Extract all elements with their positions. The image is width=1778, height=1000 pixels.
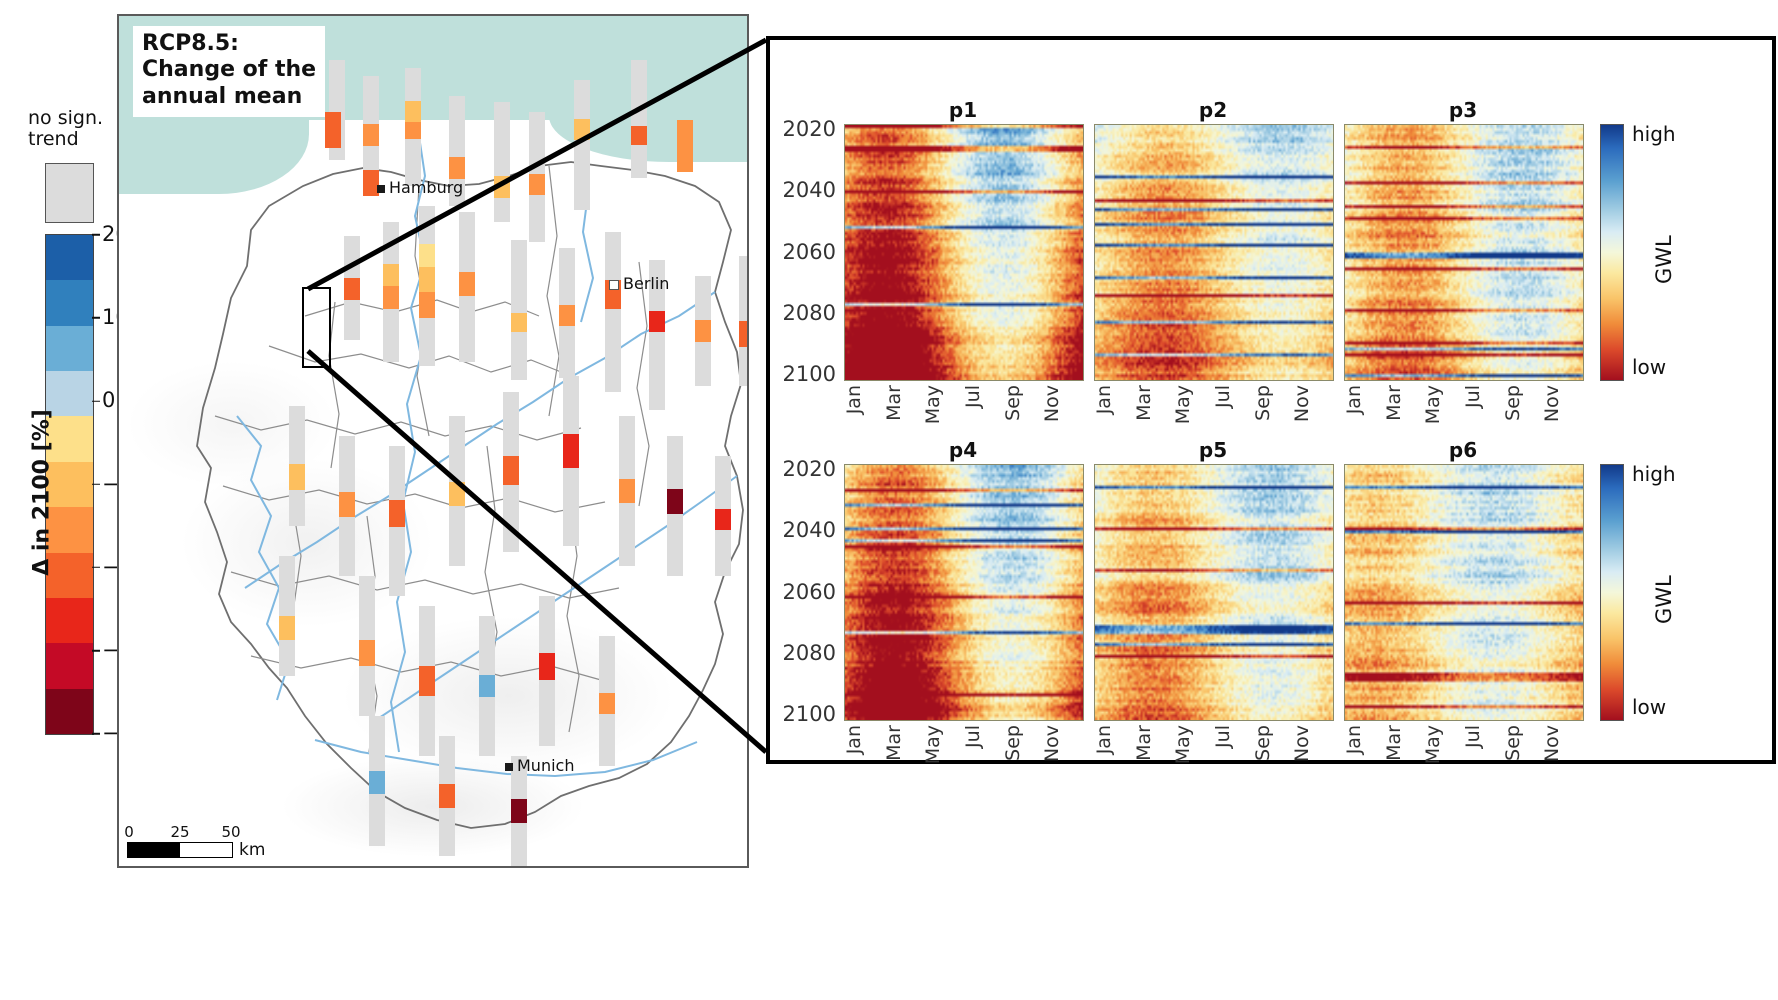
- heatmap-xtick-nov: Nov: [1041, 385, 1063, 422]
- heatmap-xtick-may: May: [922, 725, 944, 764]
- map-bar-glyph: [619, 416, 635, 566]
- germany-map[interactable]: RCP8.5: Change of the annual mean Hambur…: [117, 14, 749, 868]
- map-bar-segment: [449, 416, 465, 482]
- map-bar-segment: [619, 416, 635, 479]
- map-bar-segment: [559, 305, 575, 326]
- map-bar-segment: [574, 80, 590, 119]
- map-bar-glyph: [494, 102, 510, 222]
- heatmap-xtick-mar: Mar: [1133, 385, 1155, 421]
- city-label-berlin: Berlin: [609, 274, 669, 293]
- scalebar-seg-light: [180, 843, 232, 857]
- map-bar-segment: [405, 68, 421, 101]
- map-bar-glyph: [559, 248, 575, 378]
- map-bar-segment: [439, 784, 455, 808]
- colorbar-tick: 0: [92, 388, 115, 412]
- scalebar-bar: [127, 842, 233, 858]
- map-bar-segment: [559, 326, 575, 378]
- map-bar-glyph: [279, 556, 295, 676]
- map-bar-glyph: [359, 576, 375, 716]
- map-bar-segment: [529, 195, 545, 242]
- map-title: RCP8.5: Change of the annual mean: [133, 26, 325, 117]
- map-bar-segment: [405, 122, 421, 139]
- map-bar-segment: [529, 112, 545, 174]
- map-bar-segment: [344, 278, 360, 301]
- heatmap-ytick-2100: 2100: [764, 702, 836, 726]
- map-bar-glyph: [419, 206, 435, 366]
- map-bar-segment: [503, 485, 519, 552]
- colorbar-axis-title: Δ in 2100 [%]: [30, 373, 55, 613]
- city-label-hamburg: Hamburg: [377, 178, 463, 197]
- map-bar-segment: [667, 489, 683, 514]
- heatmap-panel-p4[interactable]: [844, 464, 1084, 721]
- heatmap-ytick-2060: 2060: [764, 580, 836, 604]
- map-bar-segment: [449, 482, 465, 506]
- heatmap-xtick-sep: Sep: [1252, 725, 1274, 761]
- map-bar-segment: [511, 823, 527, 868]
- map-bar-segment: [419, 206, 435, 244]
- gwl-colorbar: [1600, 124, 1624, 381]
- heatmap-xtick-sep: Sep: [1502, 385, 1524, 421]
- map-bar-segment: [529, 174, 545, 195]
- map-bar-glyph: [419, 606, 435, 756]
- gwl-colorbar: [1600, 464, 1624, 721]
- inset-selection-rectangle[interactable]: [302, 287, 331, 368]
- map-bar-segment: [511, 332, 527, 380]
- map-bar-segment: [289, 406, 305, 464]
- map-bar-segment: [369, 771, 385, 794]
- map-bar-segment: [363, 76, 379, 124]
- map-bar-segment: [419, 606, 435, 666]
- heatmap-xtick-may: May: [922, 385, 944, 424]
- city-marker-icon: [377, 185, 385, 193]
- heatmap-xtick-mar: Mar: [883, 385, 905, 421]
- map-bar-glyph: [667, 436, 683, 576]
- map-bar-segment: [279, 640, 295, 676]
- map-bar-segment: [619, 503, 635, 566]
- heatmap-xtick-sep: Sep: [1252, 385, 1274, 421]
- map-bar-glyph: [405, 68, 421, 186]
- city-marker-icon: [505, 763, 513, 771]
- heatmap-xtick-sep: Sep: [1002, 385, 1024, 421]
- map-bar-segment: [511, 313, 527, 333]
- heatmap-xtick-sep: Sep: [1502, 725, 1524, 761]
- map-bar-segment: [339, 492, 355, 517]
- map-bar-segment: [605, 232, 621, 280]
- map-bar-segment: [574, 140, 590, 210]
- city-marker-icon: [609, 280, 619, 290]
- heatmap-ytick-2020: 2020: [764, 117, 836, 141]
- map-bar-segment: [449, 506, 465, 566]
- colorbar-segment: [46, 689, 93, 734]
- colorbar-legend: no sign. trend 20100−10−20−30−40 Δ in 21…: [0, 0, 120, 1000]
- map-bar-segment: [359, 666, 375, 716]
- heatmap-xtick-nov: Nov: [1041, 725, 1063, 762]
- map-bar-segment: [344, 300, 360, 340]
- map-bar-segment: [439, 808, 455, 856]
- map-bar-segment: [479, 697, 495, 756]
- map-bar-segment: [599, 636, 615, 693]
- map-bar-segment: [419, 292, 435, 318]
- heatmap-grid: p1JanMarMayJulSepNov20202040206020802100…: [770, 40, 1772, 760]
- heatmap-panel-title-p3: p3: [1344, 98, 1582, 122]
- map-bar-segment: [479, 675, 495, 697]
- map-bar-segment: [494, 176, 510, 198]
- map-bar-segment: [715, 530, 731, 576]
- heatmap-xtick-jan: Jan: [1093, 725, 1115, 754]
- map-bar-segment: [599, 714, 615, 766]
- map-bar-segment: [339, 517, 355, 576]
- map-bar-segment: [695, 320, 711, 342]
- map-bar-segment: [667, 436, 683, 489]
- heatmap-panel-p2[interactable]: [1094, 124, 1334, 381]
- heatmap-xtick-jul: Jul: [1212, 725, 1234, 748]
- map-bar-segment: [419, 244, 435, 266]
- map-bar-segment: [539, 596, 555, 653]
- map-bar-segment: [605, 309, 621, 392]
- no-significant-trend-swatch: [45, 163, 94, 223]
- map-bar-glyph: [605, 232, 621, 392]
- map-bar-glyph: [715, 456, 731, 576]
- heatmap-xtick-mar: Mar: [1133, 725, 1155, 761]
- heatmap-panel-p3[interactable]: [1344, 124, 1584, 381]
- map-bar-segment: [419, 696, 435, 756]
- map-bar-segment: [459, 212, 475, 272]
- map-bar-segment: [539, 680, 555, 746]
- colorbar-segment: [46, 643, 93, 688]
- map-bar-segment: [631, 60, 647, 126]
- map-bar-segment: [715, 509, 731, 531]
- map-bar-segment: [695, 276, 711, 320]
- map-bar-segment: [459, 272, 475, 296]
- map-bar-glyph: [439, 736, 455, 856]
- heatmap-xtick-may: May: [1172, 725, 1194, 764]
- heatmap-ytick-2040: 2040: [764, 518, 836, 542]
- heatmap-xtick-mar: Mar: [1383, 385, 1405, 421]
- map-bar-segment: [494, 102, 510, 176]
- heatmap-xtick-jul: Jul: [962, 385, 984, 408]
- gwl-label-title: GWL: [1652, 575, 1676, 624]
- gwl-label-high: high: [1632, 462, 1676, 486]
- map-bar-segment: [511, 240, 527, 313]
- map-bar-segment: [329, 60, 345, 118]
- map-bar-glyph: [631, 60, 647, 178]
- map-bar-segment: [511, 799, 527, 823]
- city-label-munich: Munich: [505, 756, 574, 775]
- map-bar-segment: [449, 157, 465, 179]
- map-bar-segment: [419, 318, 435, 366]
- map-bar-glyph: [695, 276, 711, 386]
- heatmap-panel-title-p6: p6: [1344, 438, 1582, 462]
- map-bar-segment: [503, 456, 519, 485]
- map-bar-glyph: [369, 716, 385, 846]
- heatmap-xtick-nov: Nov: [1541, 725, 1563, 762]
- map-bar-segment: [419, 267, 435, 293]
- inset-heatmap-panel: p1JanMarMayJulSepNov20202040206020802100…: [766, 36, 1776, 764]
- colorbar-segment: [46, 326, 93, 371]
- map-bar-segment: [631, 145, 647, 178]
- map-bar-segment: [494, 198, 510, 222]
- map-bar-glyph: [677, 120, 693, 172]
- heatmap-xtick-mar: Mar: [1383, 725, 1405, 761]
- map-bar-glyph: [339, 436, 355, 576]
- map-bar-glyph: [449, 416, 465, 566]
- map-bar-segment: [389, 446, 405, 500]
- map-bar-glyph: [383, 222, 399, 362]
- map-bar-segment: [325, 112, 341, 148]
- heatmap-xtick-jul: Jul: [1462, 725, 1484, 748]
- heatmap-panel-p1[interactable]: [844, 124, 1084, 381]
- map-bar-segment: [359, 640, 375, 665]
- map-bar-glyph: [511, 240, 527, 380]
- map-bar-segment: [279, 616, 295, 640]
- map-bar-segment: [363, 124, 379, 146]
- map-bar-segment: [563, 376, 579, 434]
- map-bar-segment: [369, 794, 385, 846]
- map-bar-segment: [503, 392, 519, 456]
- map-bar-glyph: [479, 616, 495, 756]
- heatmap-xtick-nov: Nov: [1291, 725, 1313, 762]
- map-scalebar: 0 25 50 km: [127, 823, 233, 858]
- map-bar-segment: [599, 693, 615, 714]
- map-bar-segment: [383, 264, 399, 286]
- heatmap-ytick-2080: 2080: [764, 301, 836, 325]
- map-bar-glyph: [599, 636, 615, 766]
- map-bar-segment: [439, 736, 455, 784]
- map-bar-segment: [339, 436, 355, 492]
- map-bar-segment: [739, 321, 749, 347]
- map-bar-segment: [677, 120, 693, 172]
- map-bar-segment: [363, 146, 379, 170]
- scalebar-seg-dark: [128, 843, 180, 857]
- map-bar-segment: [563, 468, 579, 546]
- map-bar-segment: [344, 236, 360, 278]
- scalebar-unit: km: [239, 840, 265, 860]
- map-bar-glyph: [503, 392, 519, 552]
- heatmap-panel-title-p5: p5: [1094, 438, 1332, 462]
- map-bar-segment: [715, 456, 731, 509]
- map-bar-segment: [405, 101, 421, 122]
- heatmap-panel-title-p1: p1: [844, 98, 1082, 122]
- heatmap-xtick-sep: Sep: [1002, 725, 1024, 761]
- gwl-label-low: low: [1632, 355, 1666, 379]
- map-bar-segment: [559, 248, 575, 305]
- heatmap-ytick-2020: 2020: [764, 457, 836, 481]
- map-bar-segment: [383, 309, 399, 362]
- map-bar-segment: [419, 666, 435, 696]
- heatmap-xtick-nov: Nov: [1541, 385, 1563, 422]
- heatmap-panel-title-p4: p4: [844, 438, 1082, 462]
- heatmap-xtick-jan: Jan: [843, 385, 865, 414]
- heatmap-xtick-jan: Jan: [1343, 725, 1365, 754]
- map-bar-segment: [563, 434, 579, 468]
- map-bar-segment: [289, 490, 305, 526]
- heatmap-xtick-jul: Jul: [1212, 385, 1234, 408]
- map-bar-segment: [383, 222, 399, 264]
- map-bar-segment: [479, 616, 495, 675]
- map-bar-segment: [739, 347, 749, 386]
- map-bar-glyph: [289, 406, 305, 526]
- gwl-label-high: high: [1632, 122, 1676, 146]
- map-bar-segment: [383, 286, 399, 308]
- map-bar-glyph: [389, 446, 405, 596]
- heatmap-panel-p6[interactable]: [1344, 464, 1584, 721]
- colorbar-segment: [46, 280, 93, 325]
- gwl-label-low: low: [1632, 695, 1666, 719]
- heatmap-panel-title-p2: p2: [1094, 98, 1332, 122]
- heatmap-ytick-2060: 2060: [764, 240, 836, 264]
- map-bar-glyph: [739, 256, 749, 386]
- map-bar-segment: [389, 527, 405, 596]
- map-bar-segment: [279, 556, 295, 616]
- heatmap-xtick-jul: Jul: [962, 725, 984, 748]
- heatmap-xtick-jan: Jan: [1343, 385, 1365, 414]
- heatmap-xtick-jan: Jan: [1093, 385, 1115, 414]
- map-bar-segment: [695, 342, 711, 386]
- heatmap-xtick-nov: Nov: [1291, 385, 1313, 422]
- heatmap-ytick-2080: 2080: [764, 641, 836, 665]
- map-bar-segment: [359, 576, 375, 640]
- heatmap-ytick-2100: 2100: [764, 362, 836, 386]
- colorbar-segment: [46, 235, 93, 280]
- heatmap-xtick-may: May: [1172, 385, 1194, 424]
- map-bar-segment: [631, 126, 647, 145]
- map-bar-segment: [667, 514, 683, 576]
- heatmap-xtick-jul: Jul: [1462, 385, 1484, 408]
- map-bar-glyph: [529, 112, 545, 242]
- map-bar-segment: [574, 119, 590, 140]
- heatmap-xtick-may: May: [1422, 725, 1444, 764]
- map-bar-glyph: [574, 80, 590, 210]
- gwl-label-title: GWL: [1652, 235, 1676, 284]
- heatmap-xtick-jan: Jan: [843, 725, 865, 754]
- map-bar-segment: [649, 332, 665, 410]
- heatmap-xtick-mar: Mar: [883, 725, 905, 761]
- map-bar-glyph: [539, 596, 555, 746]
- scalebar-numbers: 0 25 50: [127, 823, 233, 842]
- map-bar-segment: [459, 296, 475, 362]
- heatmap-ytick-2040: 2040: [764, 178, 836, 202]
- map-bar-glyph: [325, 112, 341, 148]
- map-bar-segment: [449, 96, 465, 157]
- map-bar-glyph: [344, 236, 360, 340]
- map-bar-segment: [739, 256, 749, 321]
- map-bar-segment: [619, 479, 635, 503]
- map-bar-glyph: [563, 376, 579, 546]
- map-bar-glyph: [459, 212, 475, 362]
- map-bar-segment: [289, 464, 305, 490]
- heatmap-panel-p5[interactable]: [1094, 464, 1334, 721]
- map-bar-segment: [369, 716, 385, 771]
- map-bar-segment: [389, 500, 405, 527]
- heatmap-xtick-may: May: [1422, 385, 1444, 424]
- no-significant-trend-label: no sign. trend: [28, 108, 120, 151]
- map-bar-segment: [539, 653, 555, 680]
- map-bar-segment: [649, 311, 665, 332]
